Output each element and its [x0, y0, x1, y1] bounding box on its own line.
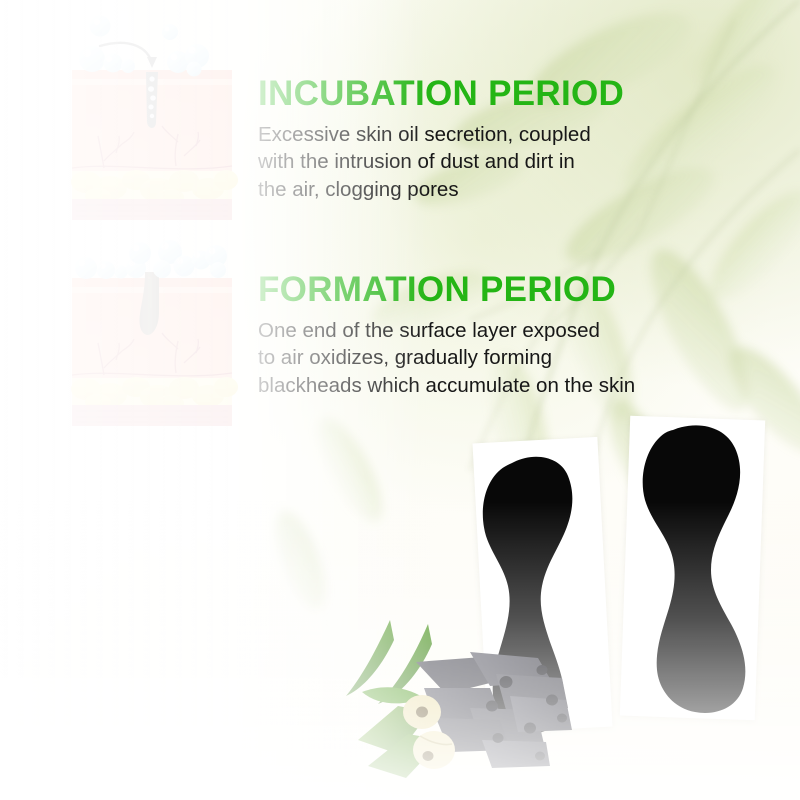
bottom-white-fade	[0, 500, 800, 800]
infographic-poster: INCUBATION PERIOD Excessive skin oil sec…	[0, 0, 800, 800]
